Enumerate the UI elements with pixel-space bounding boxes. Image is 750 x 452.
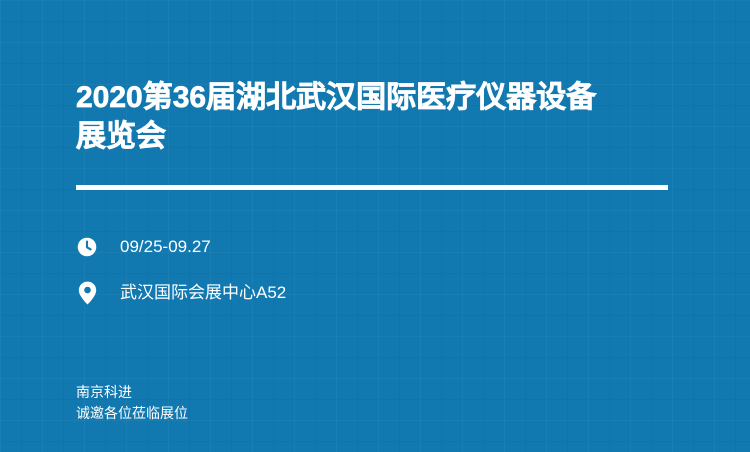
clock-icon (76, 234, 98, 260)
event-date-row: 09/25-09.27 (76, 232, 576, 262)
event-date-text: 09/25-09.27 (120, 236, 211, 258)
event-info-list: 09/25-09.27 武汉国际会展中心A52 (76, 232, 576, 324)
banner-content: 2020第36届湖北武汉国际医疗仪器设备 展览会 09/25-09.27 (0, 0, 750, 452)
title-line-1: 2020第36届湖北武汉国际医疗仪器设备 (76, 78, 712, 117)
title-line-2: 展览会 (76, 117, 712, 156)
event-venue-row: 武汉国际会展中心A52 (76, 278, 576, 308)
page-title: 2020第36届湖北武汉国际医疗仪器设备 展览会 (76, 78, 712, 156)
event-venue-text: 武汉国际会展中心A52 (120, 282, 286, 304)
footer-invitation-text: 诚邀各位莅临展位 (76, 403, 188, 424)
footer-block: 南京科进 诚邀各位莅临展位 (76, 382, 188, 424)
exhibition-banner: 2020第36届湖北武汉国际医疗仪器设备 展览会 09/25-09.27 (0, 0, 750, 452)
footer-company-name: 南京科进 (76, 382, 188, 403)
location-pin-icon (76, 280, 98, 306)
title-divider (76, 185, 668, 190)
